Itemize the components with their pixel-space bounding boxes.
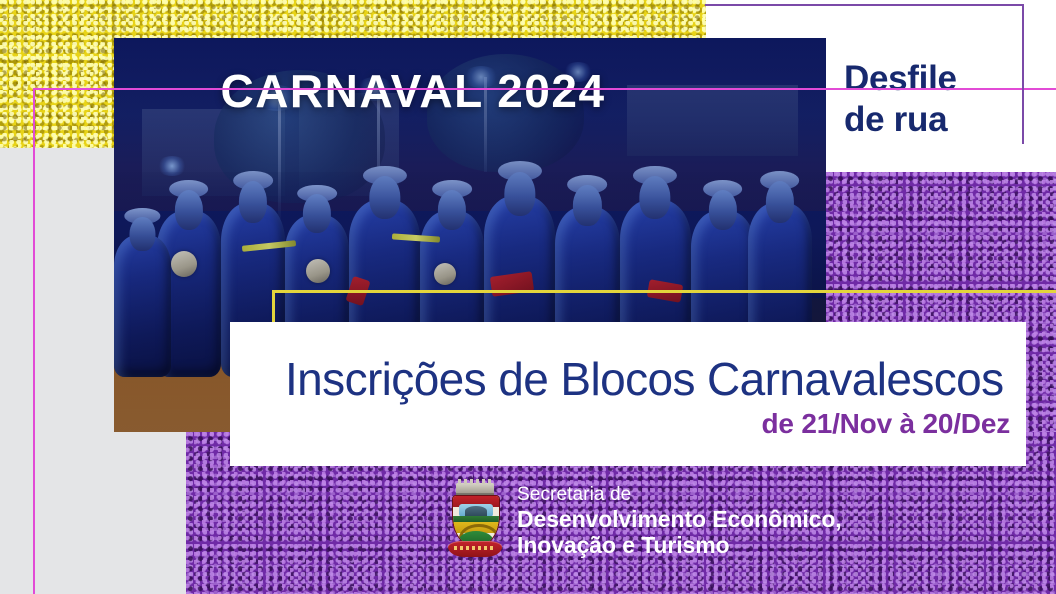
shield-part bbox=[452, 495, 500, 547]
ribbon-part bbox=[448, 541, 502, 557]
secretaria-prefix: Secretaria de bbox=[517, 484, 842, 506]
decorative-purple-horizontal-line bbox=[705, 4, 1024, 6]
inscricoes-card: Inscrições de Blocos Carnavalescos de 21… bbox=[230, 322, 1026, 466]
coat-of-arms-icon bbox=[447, 481, 503, 561]
desfile-label: Desfile de rua bbox=[844, 58, 957, 141]
crown-part bbox=[456, 483, 494, 495]
decorative-gold-horizontal-line bbox=[272, 290, 1056, 293]
secretaria-logo: Secretaria de Desenvolvimento Econômico,… bbox=[447, 479, 867, 563]
secretaria-name: Desenvolvimento Econômico, Inovação e Tu… bbox=[517, 506, 842, 558]
secretaria-text: Secretaria de Desenvolvimento Econômico,… bbox=[517, 484, 842, 558]
inscricoes-headline: Inscrições de Blocos Carnavalescos bbox=[285, 352, 1004, 406]
decorative-magenta-vertical-line bbox=[33, 88, 35, 594]
inscricoes-date-range: de 21/Nov à 20/Dez bbox=[761, 408, 1010, 440]
carnival-poster: Desfile de rua Inscrições de Blocos Carn… bbox=[0, 0, 1056, 594]
decorative-magenta-horizontal-line bbox=[33, 88, 1056, 90]
decorative-purple-vertical-line bbox=[1022, 4, 1024, 144]
poster-main-title: CARNAVAL 2024 bbox=[0, 64, 826, 118]
